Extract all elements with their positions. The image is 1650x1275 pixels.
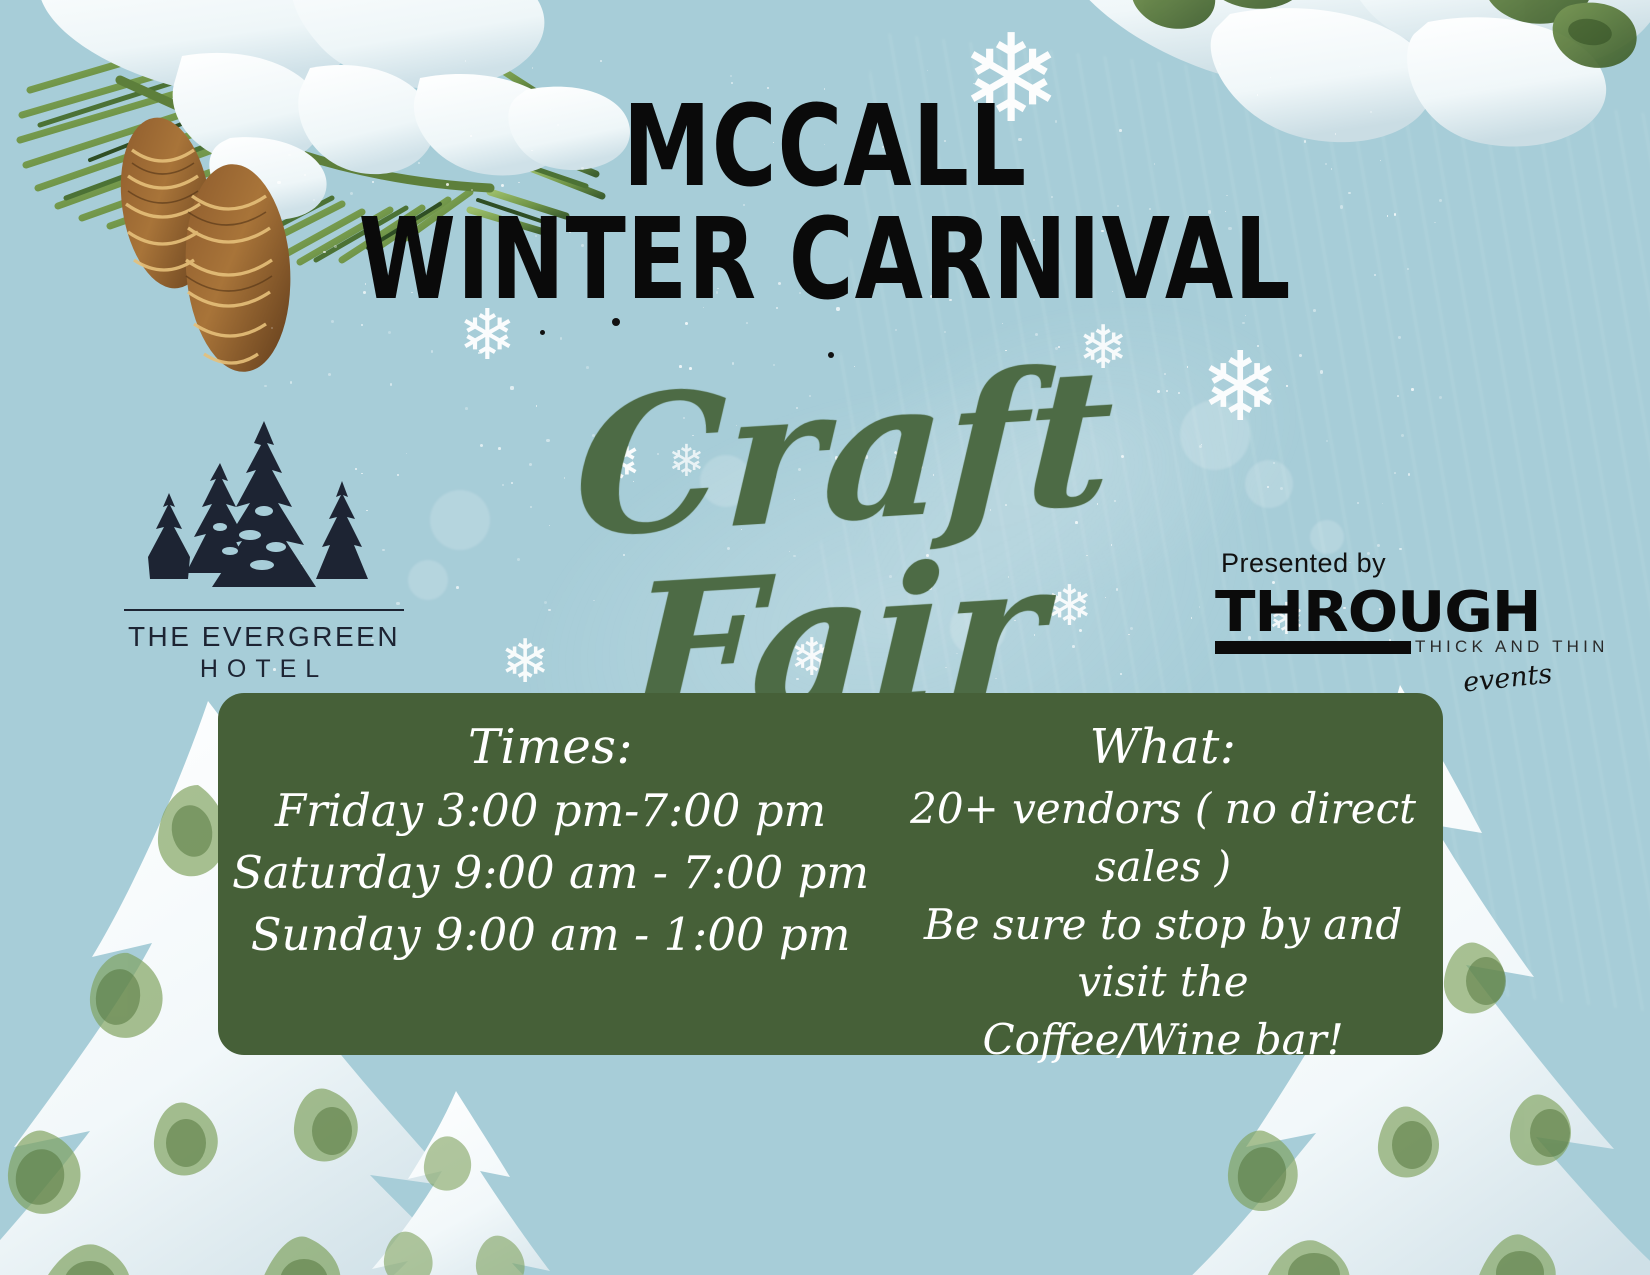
through-tagline: THICK AND THIN: [1415, 637, 1609, 657]
what-line: 20+ vendors ( no direct sales ): [897, 780, 1429, 896]
snow-speck: [944, 331, 945, 332]
snow-speck: [895, 329, 897, 331]
times-line: Sunday 9:00 am - 1:00 pm: [232, 904, 869, 966]
snow-speck: [1326, 440, 1328, 442]
snow-speck: [560, 337, 562, 339]
through-brand-word: THROUGH: [1215, 585, 1541, 641]
snow-speck: [1401, 434, 1404, 437]
snow-speck: [532, 67, 534, 69]
times-heading: Times:: [232, 719, 869, 776]
event-info-panel: Times: Friday 3:00 pm-7:00 pm Saturday 9…: [218, 693, 1443, 1055]
times-line: Friday 3:00 pm-7:00 pm: [232, 780, 869, 842]
evergreen-hotel-name: THE EVERGREEN: [124, 621, 404, 653]
presenter-logo-block[interactable]: Presented by THROUGH THICK AND THIN even…: [1215, 548, 1545, 641]
snow-speck: [540, 330, 545, 335]
evergreen-hotel-logo[interactable]: THE EVERGREEN HOTEL: [124, 415, 404, 684]
snow-speck: [1320, 370, 1323, 373]
snow-speck: [264, 385, 266, 387]
presented-by-label: Presented by: [1221, 548, 1545, 579]
headline-line-1: MCCALL: [33, 96, 1617, 199]
headline-line-2: WINTER CARNIVAL: [33, 209, 1617, 312]
what-line: Coffee/Wine bar!: [897, 1011, 1429, 1069]
through-underline-bar: [1215, 641, 1411, 654]
logo-divider: [124, 609, 404, 611]
pine-trees-icon: [124, 415, 404, 605]
snow-speck: [1299, 354, 1302, 357]
poster-headline: MCCALL WINTER CARNIVAL: [0, 96, 1650, 293]
evergreen-hotel-subtitle: HOTEL: [124, 655, 404, 684]
what-column: What: 20+ vendors ( no direct sales ) Be…: [883, 693, 1443, 1055]
snow-speck: [600, 60, 602, 62]
snow-speck: [1219, 63, 1221, 65]
times-column: Times: Friday 3:00 pm-7:00 pm Saturday 9…: [218, 693, 883, 1055]
snow-speck: [1397, 395, 1399, 397]
what-heading: What:: [897, 719, 1429, 776]
snow-speck: [1394, 472, 1396, 474]
what-line: Be sure to stop by and visit the: [897, 896, 1429, 1012]
through-logo: THROUGH THICK AND THIN events: [1215, 585, 1545, 641]
winter-carnival-craft-fair-poster: ❄ ❄ ❄ ❄ ❄ ❄ ❄ ❄ ❄ ❄ ❄ MCCALL WINTER CARN…: [0, 0, 1650, 1275]
snow-speck: [1439, 396, 1442, 399]
snow-speck: [421, 94, 422, 95]
times-line: Saturday 9:00 am - 7:00 pm: [232, 842, 869, 904]
snow-speck: [1411, 388, 1413, 390]
snow-speck: [478, 352, 480, 354]
snow-speck: [1398, 336, 1400, 338]
